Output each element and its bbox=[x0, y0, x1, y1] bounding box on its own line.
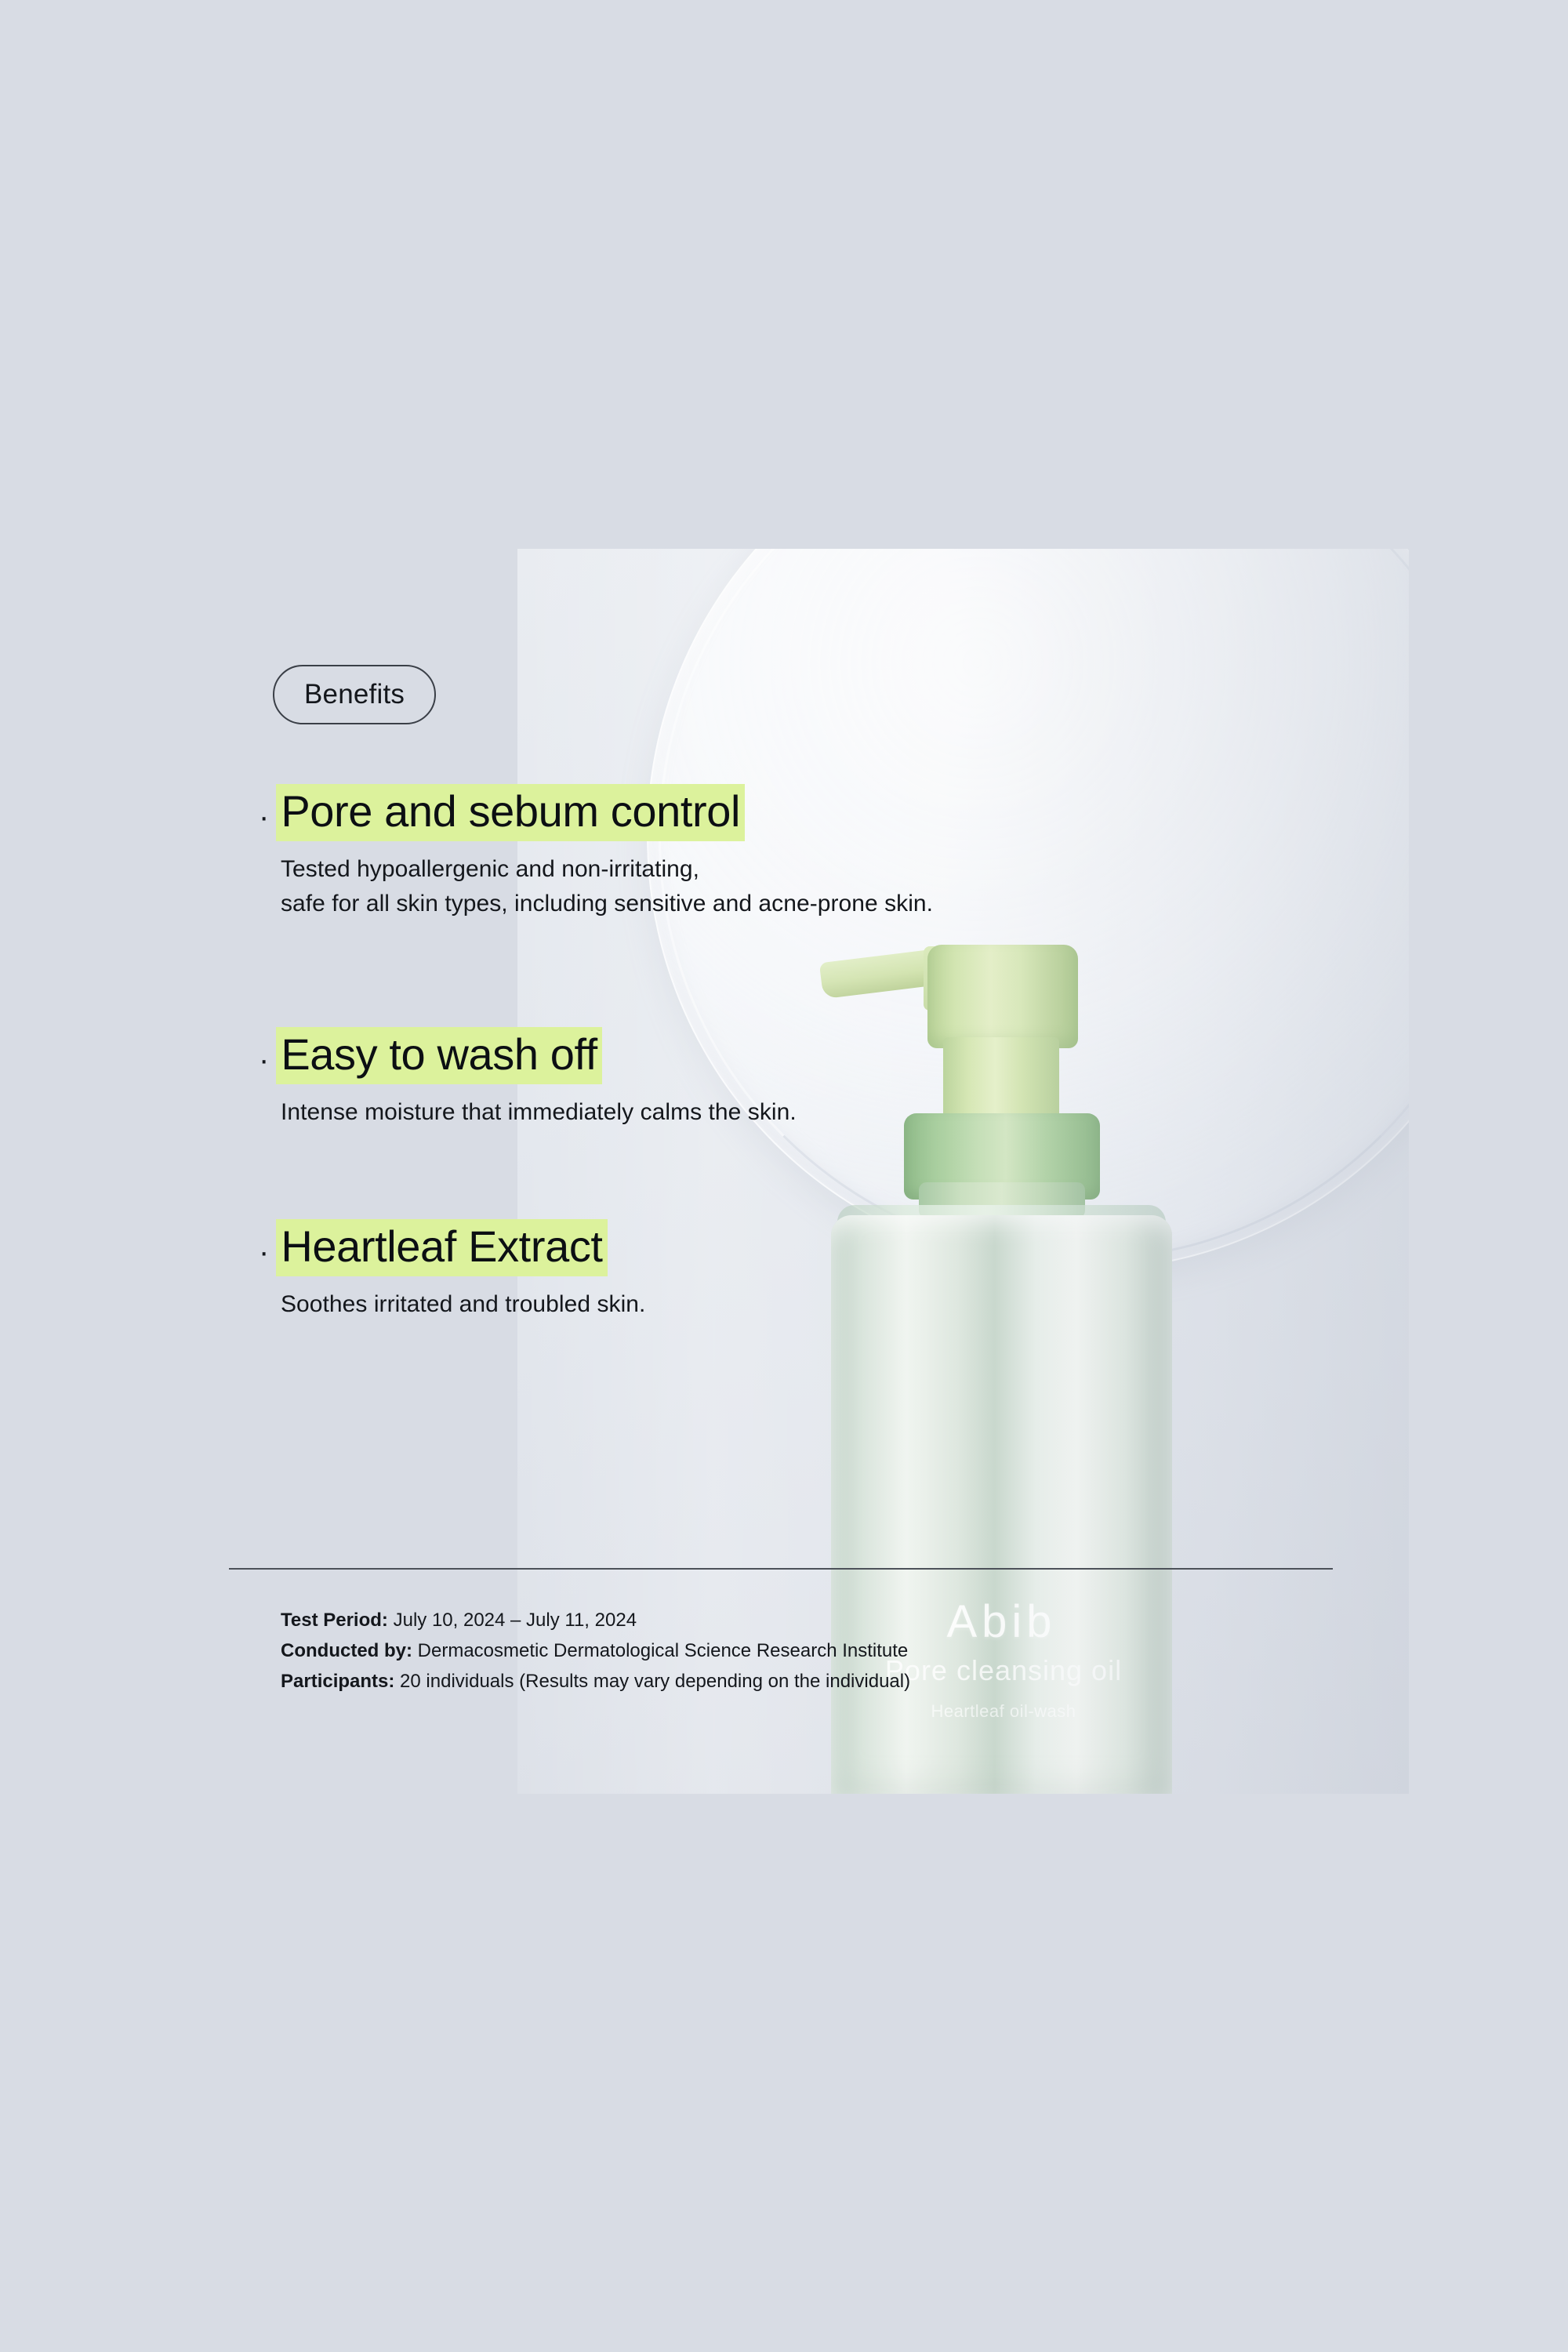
bullet-icon: · bbox=[259, 1236, 269, 1268]
study-fact-row: Test Period: July 10, 2024 – July 11, 20… bbox=[281, 1606, 910, 1636]
benefit-item-easy-to-wash-off: · Easy to wash off Intense moisture that… bbox=[259, 1027, 797, 1130]
benefits-badge: Benefits bbox=[273, 665, 436, 724]
study-fact-label: Conducted by: bbox=[281, 1640, 412, 1661]
study-fact-row: Conducted by: Dermacosmetic Dermatologic… bbox=[281, 1636, 910, 1667]
benefit-title: Easy to wash off bbox=[276, 1027, 601, 1084]
benefit-description-line: Intense moisture that immediately calms … bbox=[281, 1095, 797, 1130]
study-fact-label: Participants: bbox=[281, 1671, 394, 1692]
benefit-description: Soothes irritated and troubled skin. bbox=[281, 1287, 645, 1322]
benefit-title: Heartleaf Extract bbox=[276, 1219, 607, 1276]
footer-divider bbox=[229, 1568, 1333, 1570]
benefit-heading-row: · Heartleaf Extract bbox=[259, 1219, 645, 1276]
benefit-description: Tested hypoallergenic and non-irritating… bbox=[281, 852, 933, 922]
product-benefits-canvas: Abib Pore cleansing oil Heartleaf oil-wa… bbox=[0, 0, 1568, 2352]
benefit-item-pore-and-sebum-control: · Pore and sebum control Tested hypoalle… bbox=[259, 784, 933, 922]
benefit-description-line: safe for all skin types, including sensi… bbox=[281, 887, 933, 921]
study-fact-value: July 10, 2024 – July 11, 2024 bbox=[394, 1610, 637, 1631]
benefit-heading-row: · Easy to wash off bbox=[259, 1027, 797, 1084]
benefit-heading-row: · Pore and sebum control bbox=[259, 784, 933, 841]
study-fact-row: Participants: 20 individuals (Results ma… bbox=[281, 1667, 910, 1697]
benefit-item-heartleaf-extract: · Heartleaf Extract Soothes irritated an… bbox=[259, 1219, 645, 1322]
study-fact-label: Test Period: bbox=[281, 1610, 388, 1631]
study-fact-value: Dermacosmetic Dermatological Science Res… bbox=[418, 1640, 909, 1661]
benefit-description-line: Soothes irritated and troubled skin. bbox=[281, 1287, 645, 1322]
bottle-subtitle-label: Heartleaf oil-wash bbox=[823, 1701, 1184, 1722]
pump-head-cap bbox=[927, 945, 1078, 1048]
benefit-description-line: Tested hypoallergenic and non-irritating… bbox=[281, 852, 933, 887]
pump-shaft bbox=[943, 1037, 1059, 1125]
study-fact-value: 20 individuals (Results may vary dependi… bbox=[400, 1671, 910, 1692]
bullet-icon: · bbox=[259, 801, 269, 833]
study-facts: Test Period: July 10, 2024 – July 11, 20… bbox=[281, 1606, 910, 1697]
bullet-icon: · bbox=[259, 1044, 269, 1076]
benefit-title: Pore and sebum control bbox=[276, 784, 745, 841]
benefit-description: Intense moisture that immediately calms … bbox=[281, 1095, 797, 1130]
